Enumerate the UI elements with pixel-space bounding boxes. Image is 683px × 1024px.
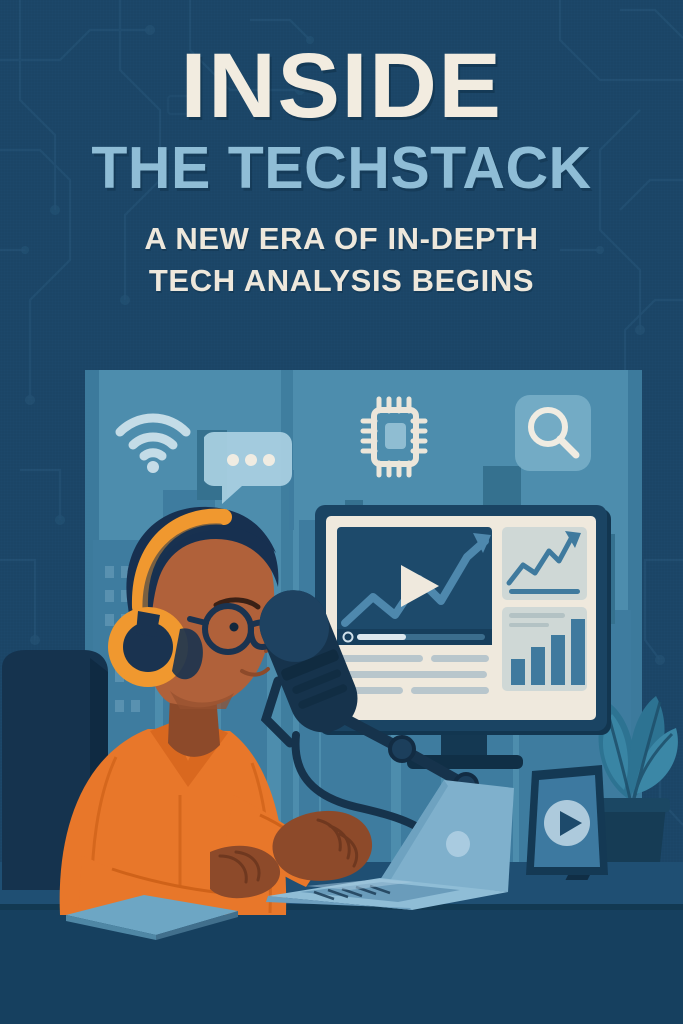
laptop[interactable] [262, 760, 542, 910]
lid-logo [446, 831, 470, 857]
chip-icon [358, 393, 436, 481]
title-block: INSIDE THE TECHSTACK A NEW ERA OF IN-DEP… [0, 0, 683, 301]
wifi-icon [110, 398, 196, 478]
page-subtitle: THE TECHSTACK [0, 129, 683, 198]
page-title: INSIDE [0, 0, 683, 129]
tagline-line-2: TECH ANALYSIS BEGINS [0, 258, 683, 301]
tagline-line-1: A NEW ERA OF IN-DEPTH [0, 198, 683, 259]
search-icon [515, 395, 591, 471]
poster-canvas: INSIDE THE TECHSTACK A NEW ERA OF IN-DEP… [0, 0, 683, 1024]
